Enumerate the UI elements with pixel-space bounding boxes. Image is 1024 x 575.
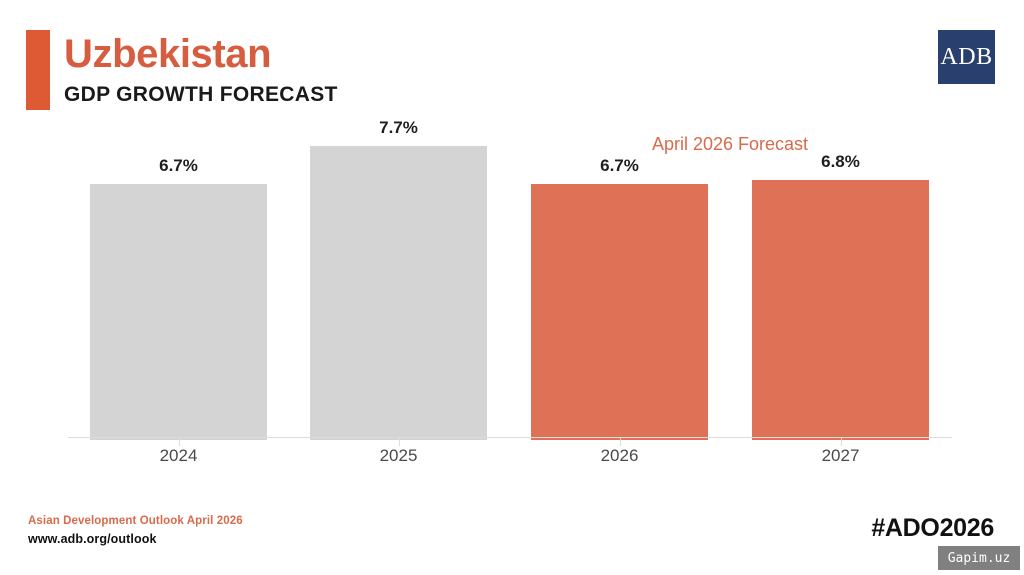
page-title: Uzbekistan	[64, 28, 764, 80]
x-axis-line	[68, 437, 952, 438]
footer-hashtag: #ADO2026	[871, 514, 994, 543]
axis-label-2025: 2025	[310, 446, 487, 466]
axis-label-2024: 2024	[90, 446, 267, 466]
bar-group-2026: 6.7%	[531, 123, 708, 440]
adb-logo: ADB	[938, 30, 995, 84]
bar-2025	[310, 146, 487, 440]
bar-value-label-2027: 6.8%	[752, 152, 929, 172]
bar-group-2025: 7.7%	[310, 123, 487, 440]
axis-tick-2024	[179, 438, 180, 446]
axis-tick-2027	[841, 438, 842, 446]
bar-2027	[752, 180, 929, 440]
title-accent-bar	[26, 30, 50, 110]
bar-value-label-2024: 6.7%	[90, 156, 267, 176]
watermark-badge: Gapim.uz	[938, 546, 1020, 570]
axis-tick-2025	[399, 438, 400, 446]
axis-tick-2026	[620, 438, 621, 446]
page-subtitle: GDP GROWTH FORECAST	[64, 82, 764, 108]
bar-2024	[90, 184, 267, 440]
bar-group-2024: 6.7%	[90, 123, 267, 440]
bar-chart: 6.7%7.7%6.7%6.8%	[0, 120, 1024, 440]
footer-url[interactable]: www.adb.org/outlook	[28, 532, 157, 546]
infographic-page: Uzbekistan GDP GROWTH FORECAST ADB April…	[0, 0, 1024, 575]
axis-label-2026: 2026	[531, 446, 708, 466]
bar-value-label-2026: 6.7%	[531, 156, 708, 176]
bar-group-2027: 6.8%	[752, 123, 929, 440]
adb-logo-text: ADB	[940, 45, 992, 69]
axis-label-2027: 2027	[752, 446, 929, 466]
bar-value-label-2025: 7.7%	[310, 118, 487, 138]
bar-2026	[531, 184, 708, 440]
watermark-text: Gapim.uz	[948, 552, 1011, 565]
footer-source: Asian Development Outlook April 2026	[28, 515, 243, 527]
title-block: Uzbekistan GDP GROWTH FORECAST	[64, 28, 764, 108]
